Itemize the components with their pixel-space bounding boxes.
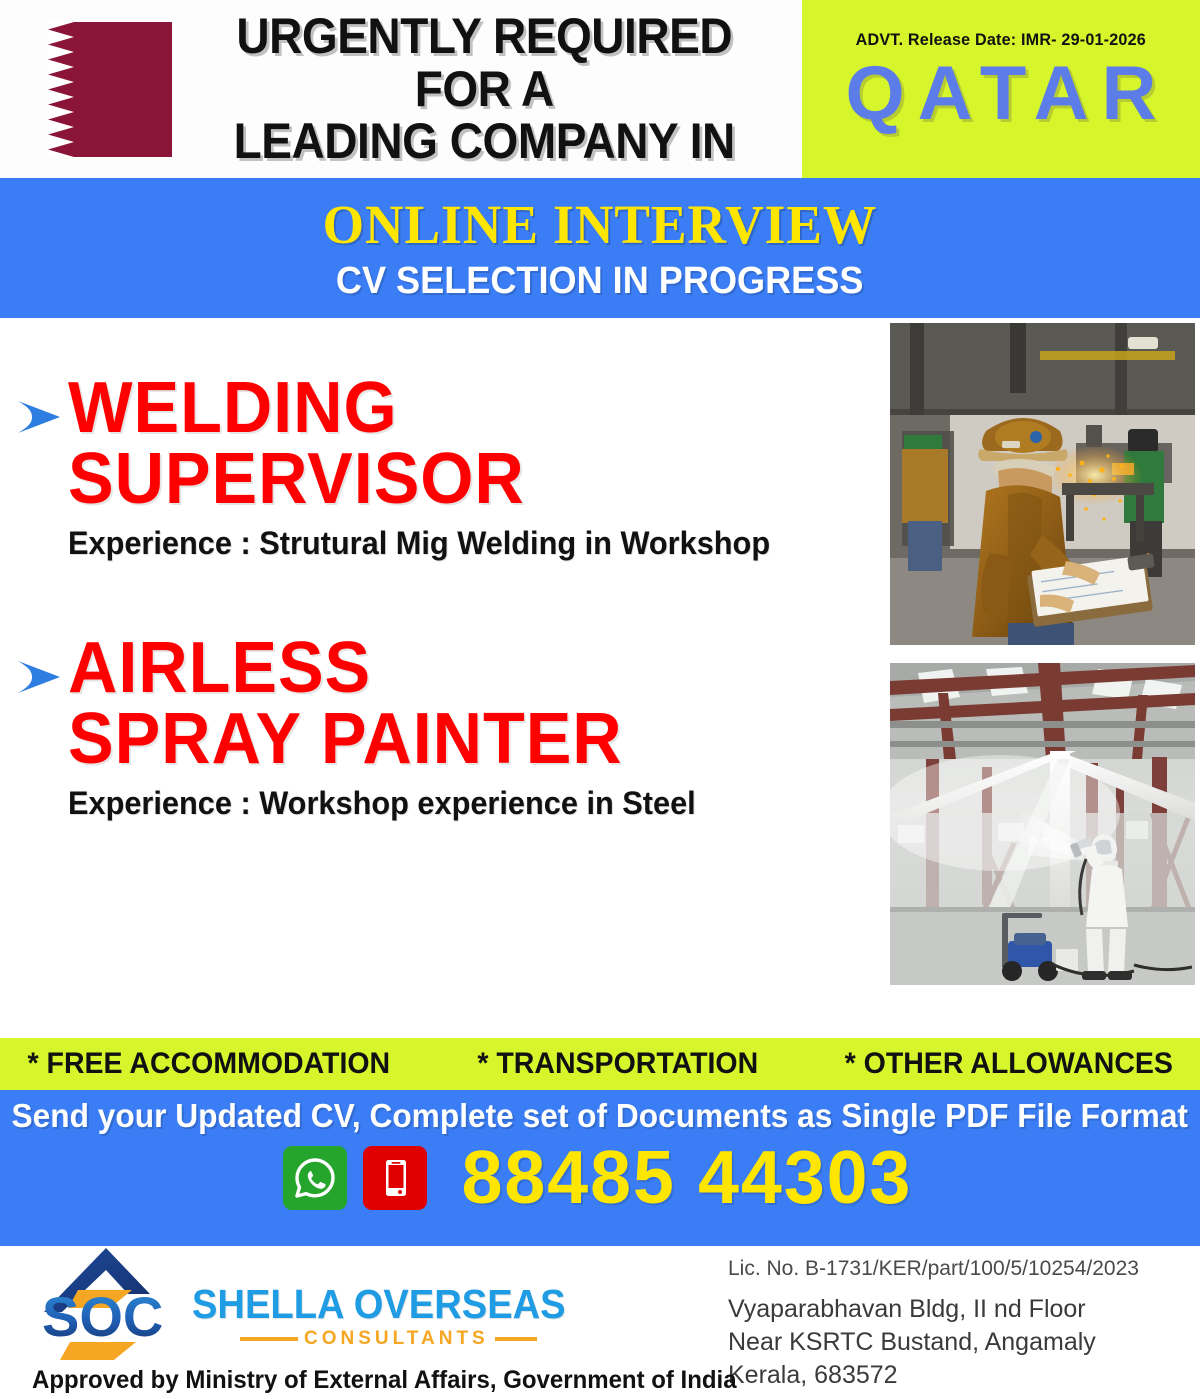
- soc-logo-mark: SOC: [40, 1246, 190, 1364]
- logo-words: SHELLA OVERSEAS CONSULTANTS: [192, 1284, 594, 1364]
- job-title: WELDING SUPERVISOR: [68, 373, 839, 514]
- job-experience: Experience : Strutural Mig Welding in Wo…: [68, 526, 848, 561]
- spray-painter-photo: [890, 663, 1195, 985]
- license-number: Lic. No. B-1731/KER/part/100/5/10254/202…: [728, 1256, 1200, 1281]
- header-left: URGENTLY REQUIRED FOR A LEADING COMPANY …: [0, 0, 802, 178]
- cv-instruction: Send your Updated CV, Complete set of Do…: [12, 1098, 1188, 1134]
- footer-section: SOC SHELLA OVERSEAS CONSULTANTS Approved…: [0, 1246, 1200, 1399]
- header-section: URGENTLY REQUIRED FOR A LEADING COMPANY …: [0, 0, 1200, 178]
- address-line: Vyaparabhavan Bldg, II nd Floor: [728, 1293, 1200, 1326]
- background-welder-left: [902, 435, 948, 571]
- welding-supervisor-photo: [890, 323, 1195, 645]
- jobs-section: WELDING SUPERVISOR Experience : Strutura…: [0, 318, 1200, 1038]
- mobile-phone-glyph: [375, 1155, 415, 1201]
- welding-photo-graphic: [890, 323, 1195, 645]
- whatsapp-icon[interactable]: [283, 1146, 347, 1210]
- soc-logo-graphic: SOC: [40, 1246, 190, 1364]
- contact-section: Send your Updated CV, Complete set of Do…: [0, 1090, 1200, 1246]
- job-experience: Experience : Workshop experience in Stee…: [68, 786, 848, 821]
- footer-left: SOC SHELLA OVERSEAS CONSULTANTS Approved…: [0, 1246, 700, 1399]
- company-name: SHELLA OVERSEAS: [192, 1284, 566, 1325]
- benefits-strip: * FREE ACCOMMODATION * TRANSPORTATION * …: [0, 1038, 1200, 1090]
- arrow-bullet-icon: [16, 397, 62, 437]
- painting-photo-graphic: [890, 663, 1195, 985]
- flag-serration: [48, 22, 74, 157]
- qatar-flag-icon: [48, 22, 172, 157]
- whatsapp-glyph: [292, 1155, 338, 1201]
- header-title: URGENTLY REQUIRED FOR A LEADING COMPANY …: [197, 10, 777, 168]
- job-listing: WELDING SUPERVISOR Experience : Strutura…: [0, 373, 880, 561]
- job-listing: AIRLESS SPRAY PAINTER Experience : Works…: [0, 633, 880, 821]
- footer-right: Lic. No. B-1731/KER/part/100/5/10254/202…: [700, 1246, 1200, 1399]
- address-line: Near KSRTC Bustand, Angamaly: [728, 1326, 1200, 1359]
- logo-row: SOC SHELLA OVERSEAS CONSULTANTS: [40, 1246, 700, 1364]
- contact-phone-number[interactable]: 88485 44303: [462, 1140, 913, 1215]
- country-name: QATAR: [833, 56, 1170, 132]
- interview-subtitle: CV SELECTION IN PROGRESS: [336, 262, 864, 300]
- company-subtitle: CONSULTANTS: [304, 1329, 489, 1348]
- benefit-item: * OTHER ALLOWANCES: [845, 1047, 1173, 1081]
- soc-logo-letters: SOC: [42, 1285, 163, 1348]
- roof-structure: [890, 663, 1195, 759]
- benefit-item: * FREE ACCOMMODATION: [28, 1047, 391, 1081]
- job-title: AIRLESS SPRAY PAINTER: [68, 633, 839, 774]
- header-right: ADVT. Release Date: IMR- 29-01-2026 QATA…: [802, 0, 1200, 178]
- job-text: WELDING SUPERVISOR Experience : Strutura…: [62, 373, 880, 561]
- logo-sub-row: CONSULTANTS: [192, 1329, 594, 1348]
- interview-banner: ONLINE INTERVIEW CV SELECTION IN PROGRES…: [0, 178, 1200, 318]
- job-text: AIRLESS SPRAY PAINTER Experience : Works…: [62, 633, 880, 821]
- logo-rule-right: [495, 1337, 537, 1341]
- phone-row: 88485 44303: [283, 1140, 917, 1215]
- advt-release-date: ADVT. Release Date: IMR- 29-01-2026: [856, 30, 1146, 50]
- address-line: Kerala, 683572: [728, 1359, 1200, 1392]
- jobs-list: WELDING SUPERVISOR Experience : Strutura…: [0, 318, 880, 822]
- arrow-bullet-icon: [16, 657, 62, 697]
- logo-rule-left: [240, 1337, 298, 1341]
- mobile-phone-icon[interactable]: [363, 1146, 427, 1210]
- benefit-item: * TRANSPORTATION: [478, 1047, 759, 1081]
- interview-title: ONLINE INTERVIEW: [323, 197, 878, 252]
- approved-text: Approved by Ministry of External Affairs…: [32, 1366, 673, 1395]
